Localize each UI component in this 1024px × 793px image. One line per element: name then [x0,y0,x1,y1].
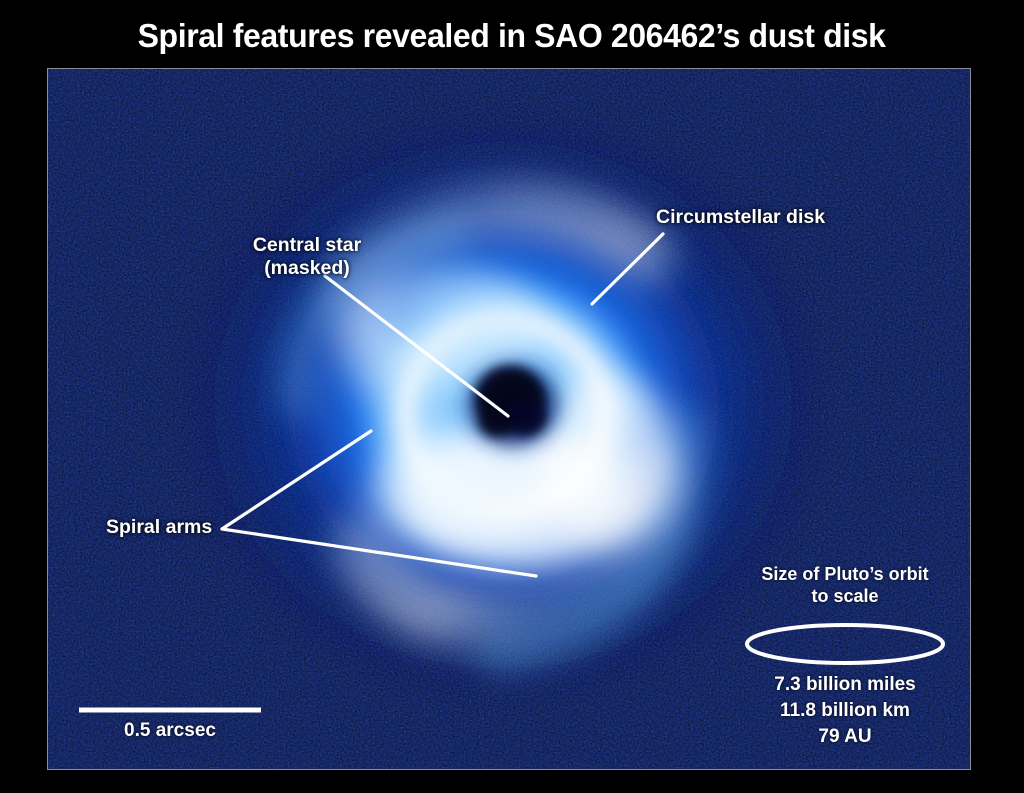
poster-title-bar: Spiral features revealed in SAO 206462’s… [0,17,1024,55]
astronomical-image-frame [47,68,971,770]
page-title: Spiral features revealed in SAO 206462’s… [138,17,886,55]
dust-disk-image [48,69,970,769]
grain-overlay [48,69,970,769]
poster-canvas: Spiral features revealed in SAO 206462’s… [0,0,1024,793]
